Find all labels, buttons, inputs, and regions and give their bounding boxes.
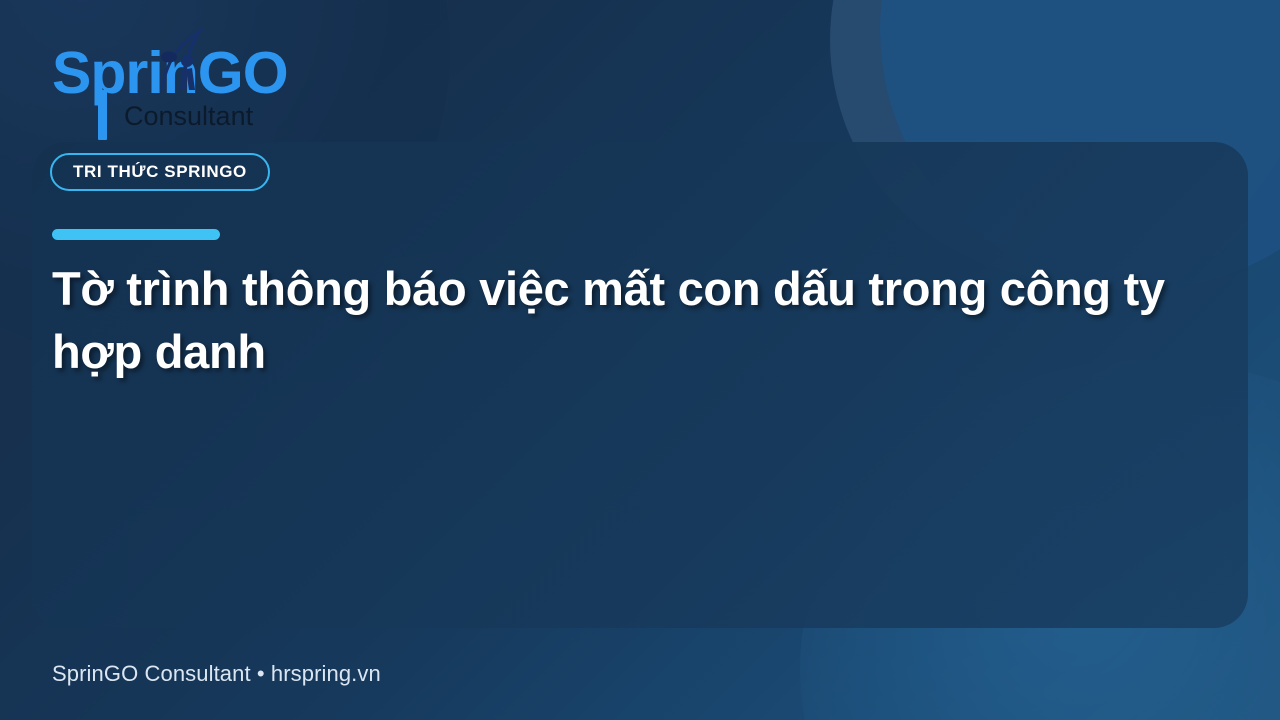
logo-accent-bar [98,90,107,140]
person-swoosh-icon [156,28,212,100]
brand-logo: SprinGO Consultant [52,44,312,144]
logo-subtitle: Consultant [124,103,253,130]
knowledge-badge[interactable]: TRI THỨC SPRINGO [50,153,270,191]
page-title: Tờ trình thông báo việc mất con dấu tron… [52,258,1212,383]
slide-canvas: SprinGO Consultant TRI THỨC SPRINGO Tờ t… [0,0,1280,720]
content-card [32,142,1248,628]
knowledge-badge-label: TRI THỨC SPRINGO [73,162,247,182]
title-accent-bar [52,229,220,240]
footer-attribution: SprinGO Consultant • hrspring.vn [52,661,381,687]
